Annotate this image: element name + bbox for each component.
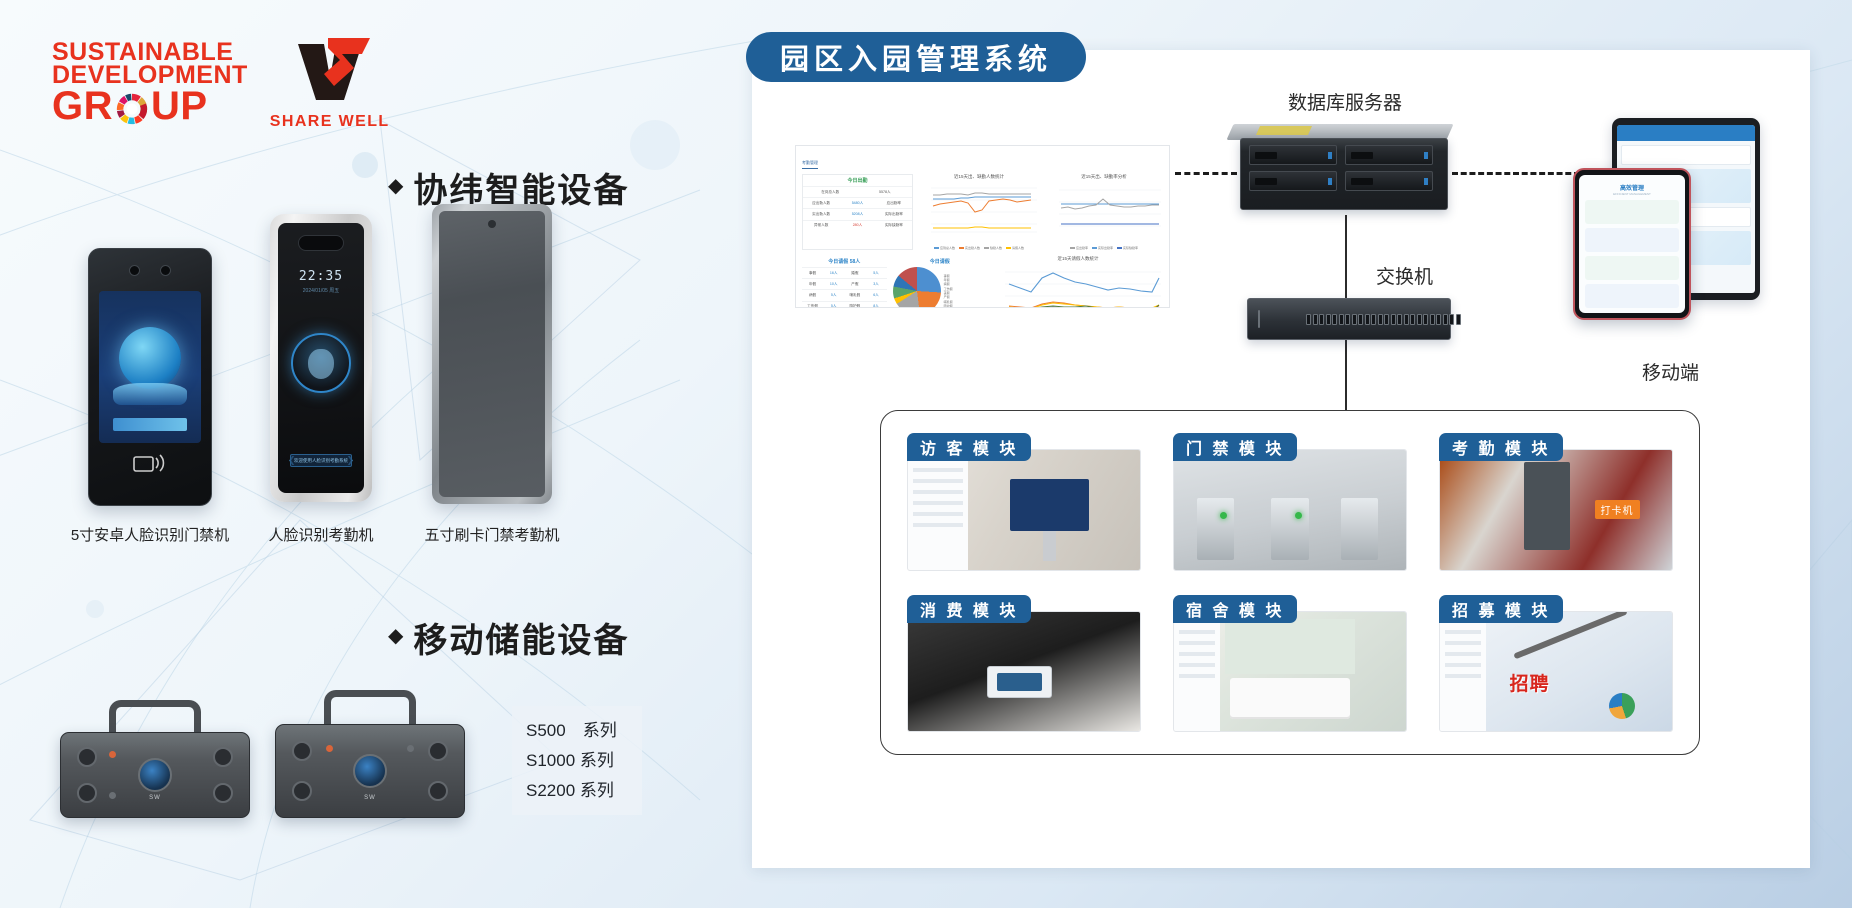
ethernet-port <box>1456 314 1461 325</box>
link-switch-to-modules <box>1345 340 1347 410</box>
bullet-icon: ◆ <box>388 176 405 196</box>
share-well-w-mark-icon <box>284 34 376 111</box>
ethernet-port <box>1358 314 1363 325</box>
row-label: 事假 <box>802 268 823 278</box>
ethernet-port <box>1449 314 1454 325</box>
device-caption-1: 5寸安卓人脸识别门禁机 <box>71 524 229 545</box>
row-value: 5人 <box>823 302 844 308</box>
row-value: 5人 <box>865 268 886 278</box>
ethernet-port <box>1378 314 1383 325</box>
camera-module-icon <box>298 235 344 251</box>
network-switch-graphic <box>1247 298 1451 340</box>
photo-sidebar <box>908 450 968 570</box>
today-leave-card: 今日请假 58人 事假 16人 婚假 5人 年假 10人 产假 3人 病假 5人… <box>802 256 887 308</box>
ethernet-port <box>1391 314 1396 325</box>
share-well-logo: SHARE WELL <box>270 34 390 131</box>
ethernet-port <box>1430 314 1435 325</box>
row-metric: 应出勤率 <box>876 198 912 208</box>
app-header-bar <box>1617 125 1755 141</box>
legend-item: 实际缺勤率 <box>1117 246 1138 250</box>
table-row: 在岗总人数 5578人 <box>803 186 912 197</box>
chart-title: 近15天请假人数统计 <box>993 256 1163 262</box>
row-label: 年假 <box>802 279 823 289</box>
module-consumption[interactable]: 消 费 模 块 <box>907 595 1141 733</box>
row-label: 婚假 <box>844 268 865 278</box>
module-photo <box>1173 449 1407 571</box>
chart-canvas <box>1045 182 1163 240</box>
series-item-s500: S500 系列 <box>526 716 628 746</box>
chart-title: 近15天出、缺勤率分析 <box>1045 174 1163 180</box>
app-card <box>1621 145 1751 165</box>
dashboard-screenshot: 考勤管理 今日出勤 在岗总人数 5578人 应出勤人数 5480人 应出勤率 实… <box>795 145 1170 308</box>
server-label: 数据库服务器 <box>1288 88 1402 115</box>
device-face-access-terminal <box>88 248 212 506</box>
table-row: 事假 16人 婚假 5人 <box>802 267 887 278</box>
table-row: 年假 10人 产假 3人 <box>802 278 887 289</box>
outlet-icon <box>213 747 233 767</box>
table-row: 异常人数 280人 实际缺勤率 <box>803 220 912 231</box>
photo-kiosk-screen <box>1010 479 1089 532</box>
row-label: 哺乳假 <box>844 290 865 300</box>
phone-content-card <box>1585 256 1679 280</box>
power-station-front-panel: SW <box>288 735 452 807</box>
ethernet-port <box>1313 314 1318 325</box>
outlet-icon <box>428 781 448 801</box>
ethernet-port <box>1371 314 1376 325</box>
server-front-face <box>1240 138 1448 210</box>
ethernet-port <box>1436 314 1441 325</box>
table-row: 工伤假 5人 陪护假 8人 <box>802 301 887 308</box>
sdg-group-suffix: UP <box>151 88 208 125</box>
today-attendance-card: 今日出勤 在岗总人数 5578人 应出勤人数 5480人 应出勤率 实出勤人数 … <box>802 174 913 250</box>
device-caption-3: 五寸刷卡门禁考勤机 <box>424 524 559 545</box>
dashboard-tab-label: 考勤管理 <box>802 160 818 169</box>
module-recruitment[interactable]: 招 募 模 块 招聘 <box>1439 595 1673 733</box>
dormitory-room-photo <box>1174 612 1406 732</box>
chart-attendance-count: 近15天出、缺勤人数统计 应到总人数 实出勤人数 缺勤人数 请假人数 <box>919 174 1039 250</box>
outlet-icon <box>292 741 312 761</box>
chart-legend: 应到总人数 实出勤人数 缺勤人数 请假人数 <box>919 246 1039 250</box>
chart-leave-count: 近15天请假人数统计 请假总人数 事假 年假 病假 其它合计 <box>993 256 1163 308</box>
display-knob-icon <box>138 758 172 792</box>
phone-screen: 高效管理 EFFICIENT MANAGEMENT <box>1579 175 1685 313</box>
power-station-front-panel: SW <box>73 743 237 807</box>
ethernet-port <box>1306 314 1311 325</box>
chart-canvas <box>993 264 1163 308</box>
terminal-screen: 22:35 2024/01/05 周五 ❮ ❯ 欢迎使用人脸识别考勤系统 <box>278 223 364 493</box>
carry-handle <box>324 690 416 724</box>
power-station-badge: SW <box>149 795 161 801</box>
chart-title: 今日请假 <box>893 256 987 267</box>
chart-attendance-rate: 近15天出、缺勤率分析 应出勤率 实际出勤率 实际缺勤率 <box>1045 174 1163 250</box>
face-scan-icon <box>291 333 351 393</box>
row-value: 280人 <box>839 221 875 231</box>
chart-title: 近15天出、缺勤人数统计 <box>919 174 1039 180</box>
legend-item: 实出勤人数 <box>959 246 980 250</box>
row-value: 5人 <box>823 290 844 300</box>
drive-bay <box>1345 171 1433 191</box>
link-server-to-mobile <box>1452 172 1580 175</box>
camera-lens-icon <box>488 220 496 228</box>
row-value: 10人 <box>823 279 844 289</box>
outlet-icon <box>292 781 312 801</box>
pie-legend: 事假 年假 病假 工伤假 丧假 产假 哺乳假 陪护假 <box>944 274 953 308</box>
power-station-badge: SW <box>364 795 376 801</box>
terminal-clock: 22:35 <box>278 269 364 284</box>
modules-container: 访 客 模 块 门 禁 模 块 考 勤 模 块 <box>880 410 1700 755</box>
row-value: 8人 <box>865 302 886 308</box>
legend-item: 应到总人数 <box>934 246 955 250</box>
photo-sidebar <box>1440 612 1486 732</box>
sdg-group-prefix: GR <box>52 88 113 125</box>
module-badge: 消 费 模 块 <box>907 595 1031 623</box>
leave-pie-chart: 今日请假 事假 年假 病假 工伤假 丧假 产假 哺乳假 陪护假 <box>893 256 987 308</box>
legend-item: 应出勤率 <box>1070 246 1088 250</box>
link-server-to-switch-upper <box>1345 215 1347 263</box>
row-label: 异常人数 <box>803 221 839 231</box>
pie-graphic <box>893 267 941 308</box>
power-station-body: SW <box>60 732 250 818</box>
recruitment-photo: 招聘 <box>1440 612 1672 732</box>
status-led-icon <box>326 745 333 752</box>
row-label: 病假 <box>802 290 823 300</box>
photo-sidebar <box>1174 612 1220 732</box>
status-led-icon <box>109 751 116 758</box>
module-dormitory[interactable]: 宿 舍 模 块 <box>1173 595 1407 733</box>
series-item-s2200: S2200 系列 <box>526 776 628 806</box>
power-series-list: S500 系列 S1000 系列 S2200 系列 <box>512 706 642 815</box>
sdg-logo: SUSTAINABLE DEVELOPMENT GR <box>52 41 248 125</box>
card-title: 今日出勤 <box>803 175 912 186</box>
module-photo: 招聘 <box>1439 611 1673 733</box>
phone-content-card <box>1585 200 1679 224</box>
module-access-control[interactable]: 门 禁 模 块 <box>1173 433 1407 571</box>
module-photo: 打卡机 <box>1439 449 1673 571</box>
page-title: 园区入园管理系统 <box>746 32 1086 82</box>
terminal-screen <box>439 211 545 497</box>
photo-terminal-pole <box>1524 462 1570 550</box>
phone-content-card <box>1585 228 1679 252</box>
row-label: 实出勤人数 <box>803 209 839 219</box>
phone-app-subtitle: EFFICIENT MANAGEMENT <box>1579 192 1685 196</box>
pie-chart-icon <box>1609 693 1635 719</box>
outlet-icon <box>213 783 233 803</box>
drive-bay <box>1249 145 1337 165</box>
ethernet-port <box>1404 314 1409 325</box>
turnstile-arm <box>1197 498 1234 560</box>
drive-bay <box>1249 171 1337 191</box>
dashboard-top-row: 今日出勤 在岗总人数 5578人 应出勤人数 5480人 应出勤率 实出勤人数 … <box>802 174 1163 250</box>
portable-power-station-2: SW <box>275 690 465 818</box>
server-top-stripe <box>1256 126 1312 135</box>
module-attendance[interactable]: 考 勤 模 块 打卡机 <box>1439 433 1673 571</box>
ethernet-port <box>1384 314 1389 325</box>
ethernet-port <box>1365 314 1370 325</box>
module-badge: 访 客 模 块 <box>907 433 1031 461</box>
row-value: 5208人 <box>839 209 875 219</box>
switch-console-port <box>1258 310 1260 328</box>
nfc-card-icon <box>133 452 167 479</box>
company-name: SHARE WELL <box>270 113 390 131</box>
legend-item: 实际出勤率 <box>1092 246 1113 250</box>
ethernet-port <box>1443 314 1448 325</box>
screen-bottom-bar <box>113 418 187 431</box>
mobile-label: 移动端 <box>1642 358 1699 385</box>
row-label: 产假 <box>844 279 865 289</box>
photo-room-wall <box>1225 619 1355 674</box>
face-globe-icon <box>119 327 181 389</box>
device-face-attendance-terminal: 22:35 2024/01/05 周五 ❮ ❯ 欢迎使用人脸识别考勤系统 <box>270 214 372 502</box>
sdg-color-wheel-icon <box>114 91 150 127</box>
drive-bay <box>1345 145 1433 165</box>
table-row: 实出勤人数 5208人 实际出勤率 <box>803 208 912 219</box>
module-visitor[interactable]: 访 客 模 块 <box>907 433 1141 571</box>
module-photo <box>907 611 1141 733</box>
power-station-body: SW <box>275 724 465 818</box>
series-item-s1000: S1000 系列 <box>526 746 628 776</box>
camera-lens-icon <box>160 265 171 276</box>
section-heading-power-devices: ◆ 移动储能设备 <box>388 613 629 662</box>
sdg-line-3: GR <box>52 88 248 125</box>
ethernet-port <box>1339 314 1344 325</box>
row-label: 在岗总人数 <box>803 187 858 197</box>
module-photo <box>907 449 1141 571</box>
chart-legend: 应出勤率 实际出勤率 实际缺勤率 <box>1045 246 1163 250</box>
device-caption-2: 人脸识别考勤机 <box>268 524 373 545</box>
link-dashboard-to-server <box>1175 172 1237 175</box>
ethernet-port <box>1332 314 1337 325</box>
row-label: 工伤假 <box>802 302 823 308</box>
row-value: 5578人 <box>858 187 913 197</box>
status-led-icon <box>109 792 116 799</box>
overlay-text: 招聘 <box>1510 669 1550 696</box>
terminal-hint-text: 欢迎使用人脸识别考勤系统 <box>290 454 352 467</box>
device-card-access-terminal <box>432 204 552 504</box>
ethernet-port <box>1423 314 1428 325</box>
chart-canvas <box>919 182 1039 240</box>
ethernet-port <box>1352 314 1357 325</box>
row-metric: 实际缺勤率 <box>876 221 912 231</box>
status-led-icon <box>1295 512 1302 519</box>
outlet-icon <box>77 783 97 803</box>
module-badge: 宿 舍 模 块 <box>1173 595 1297 623</box>
ethernet-port <box>1417 314 1422 325</box>
ethernet-port <box>1326 314 1331 325</box>
row-value: 3人 <box>865 279 886 289</box>
attendance-terminal-photo: 打卡机 <box>1440 450 1672 570</box>
phone-app-title: 高效管理 <box>1579 175 1685 192</box>
section-heading-2-text: 移动储能设备 <box>413 613 629 662</box>
overlay-tag: 打卡机 <box>1595 500 1640 519</box>
camera-row <box>89 265 211 276</box>
ethernet-port <box>1345 314 1350 325</box>
row-label: 应出勤人数 <box>803 198 839 208</box>
visitor-kiosk-photo <box>908 450 1140 570</box>
turnstile-arm <box>1271 498 1308 560</box>
terminal-date: 2024/01/05 周五 <box>278 287 364 294</box>
row-value: 6人 <box>865 290 886 300</box>
switch-label: 交换机 <box>1376 262 1433 289</box>
modules-grid: 访 客 模 块 门 禁 模 块 考 勤 模 块 <box>907 433 1673 732</box>
bullet-icon: ◆ <box>388 626 405 646</box>
table-row: 应出勤人数 5480人 应出勤率 <box>803 197 912 208</box>
phone-mockup: 高效管理 EFFICIENT MANAGEMENT <box>1573 168 1691 320</box>
portable-power-station-1: SW <box>60 700 250 818</box>
module-badge: 招 募 模 块 <box>1439 595 1563 623</box>
brand-logo-block: SUSTAINABLE DEVELOPMENT GR <box>52 34 390 131</box>
turnstile-arm <box>1341 498 1378 560</box>
camera-lens-icon <box>129 265 140 276</box>
legend-item: 陪护假 <box>944 304 953 308</box>
row-metric: 实际出勤率 <box>876 209 912 219</box>
outlet-icon <box>428 741 448 761</box>
row-value: 16人 <box>823 268 844 278</box>
ethernet-port <box>1319 314 1324 325</box>
terminal-screen <box>99 291 201 443</box>
table-row: 病假 5人 哺乳假 6人 <box>802 289 887 300</box>
photo-bed <box>1230 678 1351 719</box>
row-value: 5480人 <box>839 198 875 208</box>
dashboard-bottom-row: 今日请假 58人 事假 16人 婚假 5人 年假 10人 产假 3人 病假 5人… <box>802 256 1163 308</box>
legend-item: 缺勤人数 <box>984 246 1002 250</box>
card-title: 今日请假 58人 <box>802 256 887 267</box>
photo-pos-terminal <box>987 666 1052 697</box>
carry-handle <box>109 700 201 734</box>
left-product-column: SUSTAINABLE DEVELOPMENT GR <box>0 0 760 908</box>
row-label: 陪护假 <box>844 302 865 308</box>
display-knob-icon <box>353 754 387 788</box>
outlet-icon <box>77 747 97 767</box>
turnstile-gate-photo <box>1174 450 1406 570</box>
database-server-graphic <box>1240 138 1448 210</box>
ethernet-port <box>1397 314 1402 325</box>
link-server-to-switch-lower <box>1345 262 1347 300</box>
hand-graphic <box>113 383 187 405</box>
module-badge: 考 勤 模 块 <box>1439 433 1563 461</box>
legend-item: 请假人数 <box>1006 246 1024 250</box>
phone-content-card <box>1585 284 1679 308</box>
module-badge: 门 禁 模 块 <box>1173 433 1297 461</box>
ethernet-port <box>1410 314 1415 325</box>
status-led-icon <box>407 745 414 752</box>
module-photo <box>1173 611 1407 733</box>
switch-port-bank <box>1306 314 1461 325</box>
pos-payment-photo <box>908 612 1140 732</box>
